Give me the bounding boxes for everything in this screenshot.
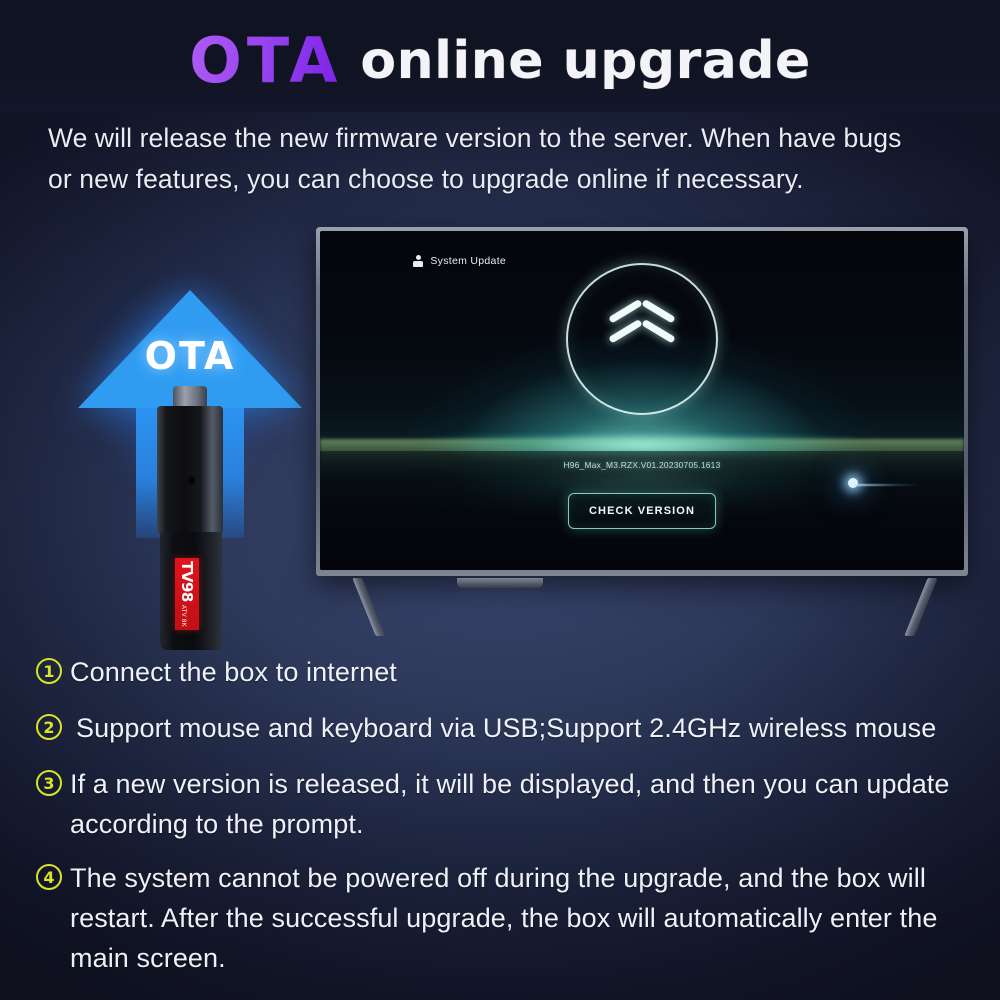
step-number-badge: 3 [36, 770, 62, 796]
step-number-badge: 2 [36, 714, 62, 740]
list-item: 4 The system cannot be powered off durin… [36, 858, 976, 978]
device-body-upper [157, 406, 223, 534]
instruction-list: 1 Connect the box to internet 2 Support … [36, 652, 976, 988]
title-rest-text: online upgrade [360, 31, 810, 91]
intro-paragraph: We will release the new firmware version… [48, 118, 988, 200]
device-brand-subtitle: ATV 8K [180, 605, 186, 627]
tv-center-bar [457, 578, 543, 588]
step-text: If a new version is released, it will be… [70, 764, 976, 844]
ota-illustration: OTA TV98 ATV 8K [70, 276, 310, 656]
tv-stick-device: TV98 ATV 8K [145, 386, 235, 651]
intro-line-1: We will release the new firmware version… [48, 118, 988, 159]
device-brand-label-inner: TV98 ATV 8K [178, 561, 196, 627]
usb-plug-icon [173, 386, 207, 408]
step-text: Support mouse and keyboard via USB;Suppo… [70, 708, 936, 748]
person-icon [413, 255, 423, 267]
step-number-badge: 1 [36, 658, 62, 684]
television: System Update H96_Max_M3.RZX.V01.2023070… [316, 227, 968, 576]
title-accent-text: OTA [189, 24, 342, 97]
check-version-button[interactable]: CHECK VERSION [568, 493, 716, 529]
list-item: 2 Support mouse and keyboard via USB;Sup… [36, 708, 976, 748]
list-item: 1 Connect the box to internet [36, 652, 976, 692]
lens-flare-streak [855, 484, 921, 486]
device-brand-name: TV98 [178, 561, 196, 602]
system-update-label: System Update [430, 255, 506, 267]
double-chevron-up-icon [611, 315, 673, 363]
device-brand-label: TV98 ATV 8K [175, 558, 199, 630]
firmware-version-text: H96_Max_M3.RZX.V01.20230705.1613 [320, 460, 964, 470]
header-banner: OTAonline upgrade [0, 0, 1000, 112]
list-item: 3 If a new version is released, it will … [36, 764, 976, 844]
system-update-header: System Update [413, 255, 506, 267]
intro-line-2: or new features, you can choose to upgra… [48, 159, 988, 200]
step-number-badge: 4 [36, 864, 62, 890]
device-led-indicator [188, 476, 195, 485]
page-title: OTAonline upgrade [0, 24, 1000, 97]
arrow-label: OTA [70, 334, 310, 378]
chevron-up-lower [611, 337, 673, 358]
step-text: The system cannot be powered off during … [70, 858, 976, 978]
tv-screen: System Update H96_Max_M3.RZX.V01.2023070… [320, 231, 964, 570]
step-text: Connect the box to internet [70, 652, 397, 692]
